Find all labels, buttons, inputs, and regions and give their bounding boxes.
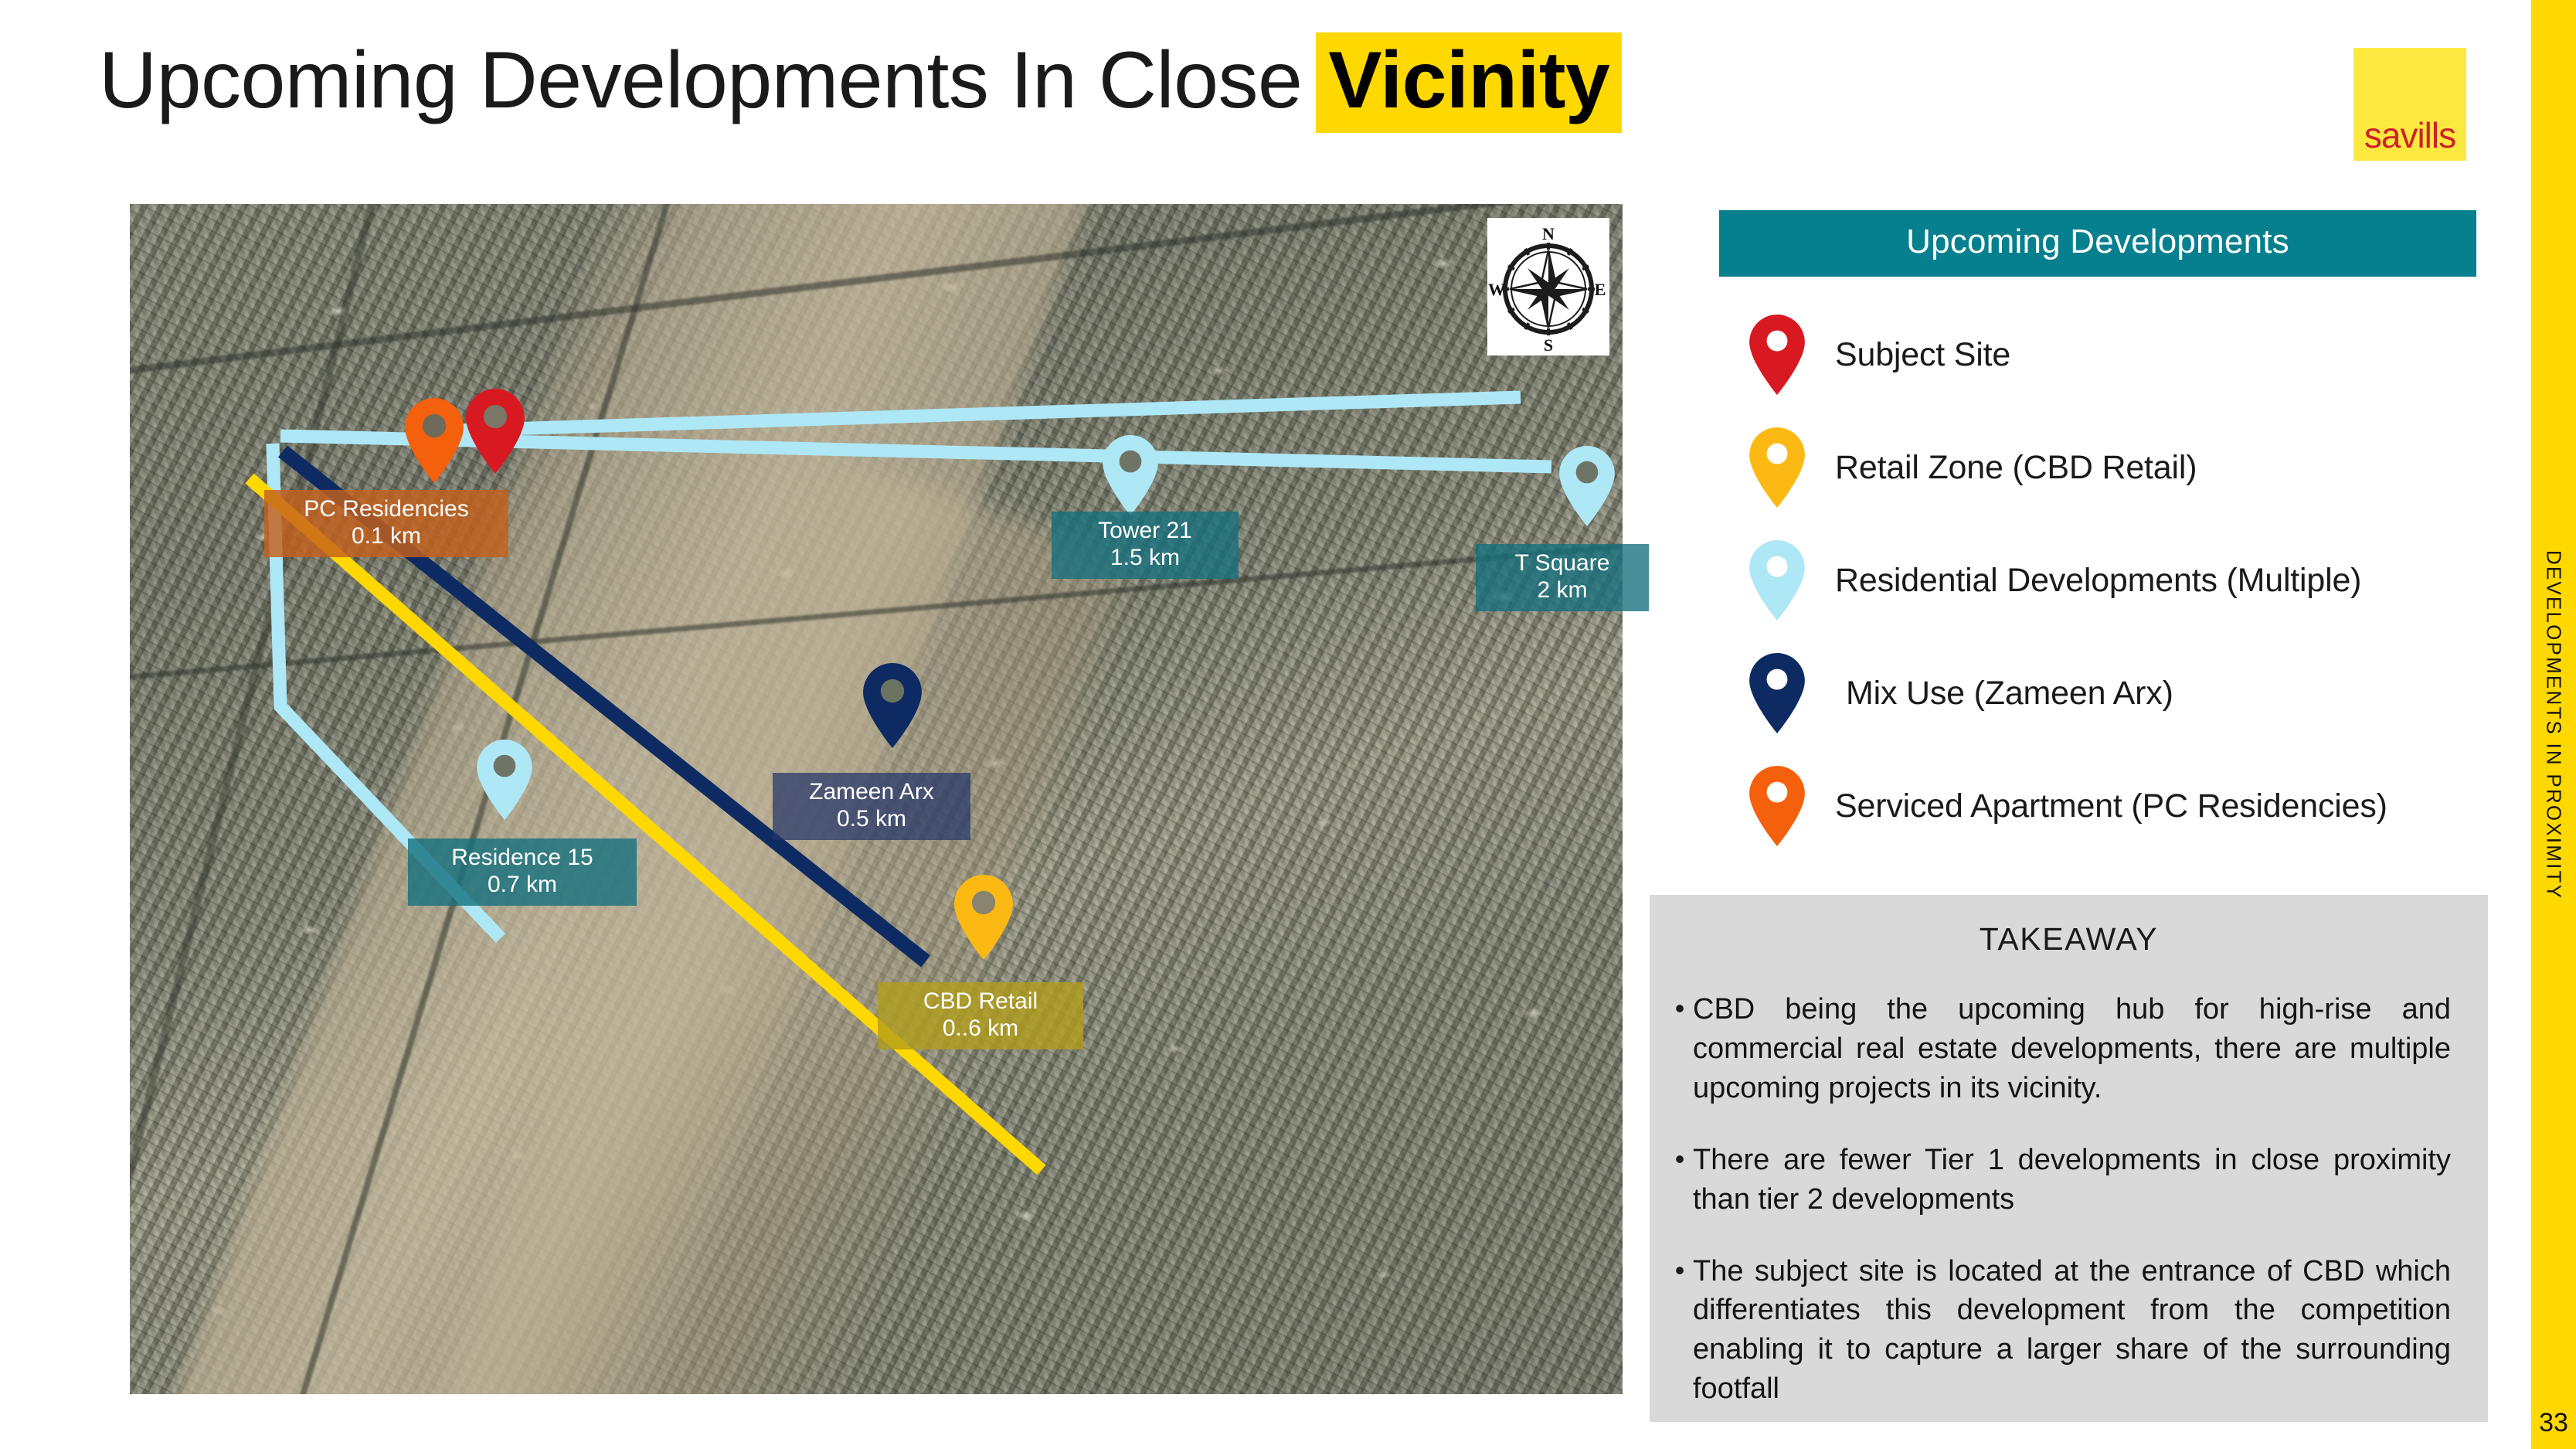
legend-item-label: Subject Site: [1835, 336, 2010, 374]
map-label-distance: 0.7 km: [419, 871, 626, 898]
page-title-main: Upcoming Developments In Close: [99, 36, 1302, 125]
legend-item-label: Retail Zone (CBD Retail): [1835, 449, 2197, 487]
takeaway-bullet-3: • The subject site is located at the ent…: [1667, 1252, 2451, 1410]
legend-item-retail-zone[interactable]: Retail Zone (CBD Retail): [1719, 411, 2476, 524]
map-label-tower-21: Tower 21 1.5 km: [1052, 512, 1239, 579]
map-label-distance: 0..6 km: [889, 1015, 1072, 1042]
legend-item-label: Mix Use (Zameen Arx): [1835, 675, 2173, 713]
compass-north-label: N: [1542, 224, 1555, 243]
takeaway-bullet-1: • CBD being the upcoming hub for high-ri…: [1667, 990, 2451, 1108]
takeaway-text: There are fewer Tier 1 developments in c…: [1693, 1141, 2451, 1219]
map-pin-icon: [1719, 540, 1835, 621]
page-number: 33: [2531, 1408, 2576, 1438]
map-label-zameen-arx: Zameen Arx 0.5 km: [773, 773, 970, 840]
savills-logo: savills: [2353, 48, 2466, 161]
legend-item-label: Residential Developments (Multiple): [1835, 562, 2361, 600]
takeaway-text: The subject site is located at the entra…: [1693, 1252, 2451, 1410]
legend-item-residential[interactable]: Residential Developments (Multiple): [1719, 524, 2476, 637]
map-pin-zameen-arx[interactable]: [863, 663, 922, 748]
map-label-pc-residencies: PC Residencies 0.1 km: [264, 490, 508, 557]
legend-item-serviced-apartment[interactable]: Serviced Apartment (PC Residencies): [1719, 750, 2476, 862]
map-pin-tower-21[interactable]: [1103, 435, 1158, 515]
takeaway-panel: TAKEAWAY • CBD being the upcoming hub fo…: [1650, 895, 2488, 1422]
legend-header: Upcoming Developments: [1719, 210, 2476, 277]
legend-item-subject-site[interactable]: Subject Site: [1719, 298, 2476, 411]
compass-south-label: S: [1544, 335, 1553, 355]
page-title-highlight: Vicinity: [1316, 32, 1622, 133]
map-label-name: Residence 15: [451, 845, 593, 870]
bullet-icon: •: [1667, 1252, 1693, 1410]
legend-item-label: Serviced Apartment (PC Residencies): [1835, 787, 2387, 825]
map-label-name: CBD Retail: [923, 988, 1038, 1014]
map-label-name: PC Residencies: [304, 496, 468, 522]
map-label-name: Zameen Arx: [809, 779, 934, 804]
map-label-name: Tower 21: [1098, 518, 1192, 543]
map-pin-subject-site[interactable]: [466, 389, 525, 474]
map-pin-icon: [1719, 427, 1835, 508]
map-label-t-square: T Square 2 km: [1476, 544, 1649, 611]
map-pin-icon: [1719, 315, 1835, 395]
takeaway-list: • CBD being the upcoming hub for high-ri…: [1650, 990, 2488, 1409]
legend-list: Subject Site Retail Zone (CBD Retail) Re…: [1719, 298, 2476, 862]
map-label-cbd-retail: CBD Retail 0..6 km: [878, 982, 1083, 1049]
map-pin-icon: [1719, 653, 1835, 733]
slide-root: Upcoming Developments In Close Vicinity …: [0, 0, 2576, 1449]
bullet-icon: •: [1667, 990, 1693, 1108]
map-label-distance: 1.5 km: [1062, 544, 1228, 571]
map-label-distance: 2 km: [1487, 577, 1638, 604]
bullet-icon: •: [1667, 1141, 1693, 1219]
compass-west-label: W: [1488, 280, 1505, 299]
compass-east-label: E: [1595, 280, 1606, 299]
legend-panel: Upcoming Developments Subject Site Retai…: [1719, 210, 2476, 862]
map-label-distance: 0.5 km: [783, 805, 960, 832]
map-pin-cbd-retail[interactable]: [954, 875, 1013, 960]
map-label-name: T Square: [1515, 550, 1610, 576]
takeaway-text: CBD being the upcoming hub for high-rise…: [1693, 990, 2451, 1108]
page-title: Upcoming Developments In Close Vicinity: [99, 32, 1622, 133]
map-pin-icon: [1719, 766, 1835, 846]
side-rail: DEVELOPMENTS IN PROXIMITY 33: [2531, 0, 2576, 1449]
legend-item-mix-use[interactable]: Mix Use (Zameen Arx): [1719, 637, 2476, 750]
compass-rose-icon: N S W E: [1487, 218, 1609, 355]
map-label-distance: 0.1 km: [275, 522, 498, 549]
takeaway-title: TAKEAWAY: [1650, 921, 2488, 957]
map-pin-pc-residencies[interactable]: [405, 398, 464, 483]
side-rail-label: DEVELOPMENTS IN PROXIMITY: [2542, 549, 2566, 899]
takeaway-bullet-2: • There are fewer Tier 1 developments in…: [1667, 1141, 2451, 1219]
map-label-residence-15: Residence 15 0.7 km: [408, 838, 637, 906]
map-pin-t-square[interactable]: [1559, 446, 1615, 526]
map-pin-residence-15[interactable]: [477, 740, 532, 820]
savills-logo-text: savills: [2353, 114, 2466, 156]
